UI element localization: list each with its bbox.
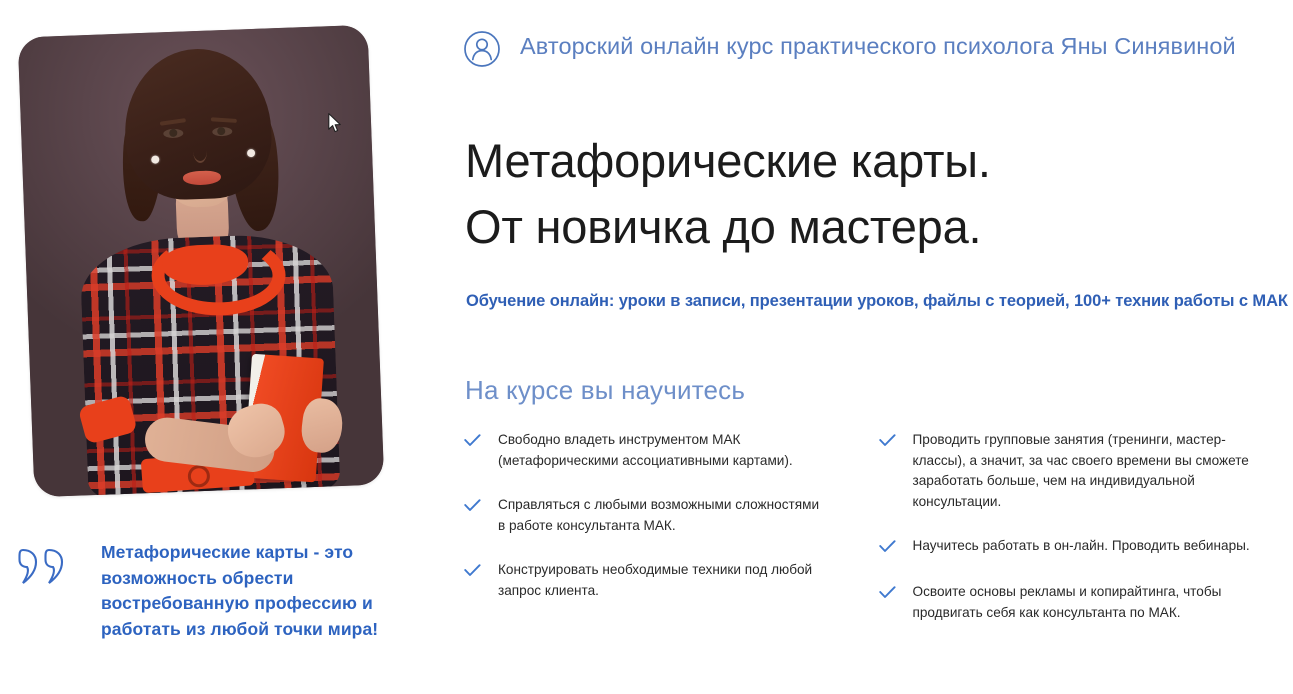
benefit-item: Научитесь работать в он-лайн. Проводить …: [879, 536, 1293, 558]
benefits-column-left: Свободно владеть инструментом МАК (метаф…: [464, 430, 878, 647]
user-avatar-icon: [462, 29, 502, 69]
benefit-text: Проводить групповые занятия (тренинги, м…: [913, 430, 1261, 512]
kicker-text: Авторский онлайн курс практического псих…: [520, 28, 1236, 64]
page-title-line-1: Метафорические карты.: [465, 128, 1285, 194]
left-column: Метафорические карты - это возможность о…: [0, 0, 440, 694]
quote-marks-icon: [18, 544, 78, 590]
benefit-text: Свободно владеть инструментом МАК (метаф…: [498, 430, 828, 471]
benefit-text: Справляться с любыми возможными сложност…: [498, 495, 828, 536]
mouse-pointer-icon: [328, 113, 342, 134]
course-subtitle: Обучение онлайн: уроки в записи, презент…: [466, 289, 1288, 314]
benefits-list: Свободно владеть инструментом МАК (метаф…: [464, 430, 1292, 647]
check-icon: [464, 430, 498, 452]
benefits-column-right: Проводить групповые занятия (тренинги, м…: [878, 430, 1293, 647]
page-title-line-2: От новичка до мастера.: [465, 194, 1285, 260]
check-icon: [879, 536, 913, 558]
benefit-item: Освоите основы рекламы и копирайтинга, ч…: [879, 582, 1293, 623]
benefit-text: Конструировать необходимые техники под л…: [498, 560, 828, 601]
benefits-heading: На курсе вы научитесь: [465, 373, 745, 407]
benefit-text: Освоите основы рекламы и копирайтинга, ч…: [913, 582, 1261, 623]
photo-subject: [18, 25, 385, 498]
check-icon: [464, 495, 498, 517]
course-kicker: Авторский онлайн курс практического псих…: [462, 28, 1293, 69]
instructor-photo: [18, 25, 385, 498]
quote-text: Метафорические карты - это возможность о…: [101, 540, 401, 642]
benefit-item: Конструировать необходимые техники под л…: [464, 560, 878, 601]
benefit-item: Справляться с любыми возможными сложност…: [464, 495, 878, 536]
benefit-item: Свободно владеть инструментом МАК (метаф…: [464, 430, 878, 471]
check-icon: [879, 582, 913, 604]
right-column: Авторский онлайн курс практического псих…: [462, 0, 1293, 694]
benefit-text: Научитесь работать в он-лайн. Проводить …: [913, 536, 1250, 557]
check-icon: [879, 430, 913, 452]
page-title: Метафорические карты. От новичка до маст…: [465, 128, 1285, 260]
benefit-item: Проводить групповые занятия (тренинги, м…: [879, 430, 1293, 512]
check-icon: [464, 560, 498, 582]
